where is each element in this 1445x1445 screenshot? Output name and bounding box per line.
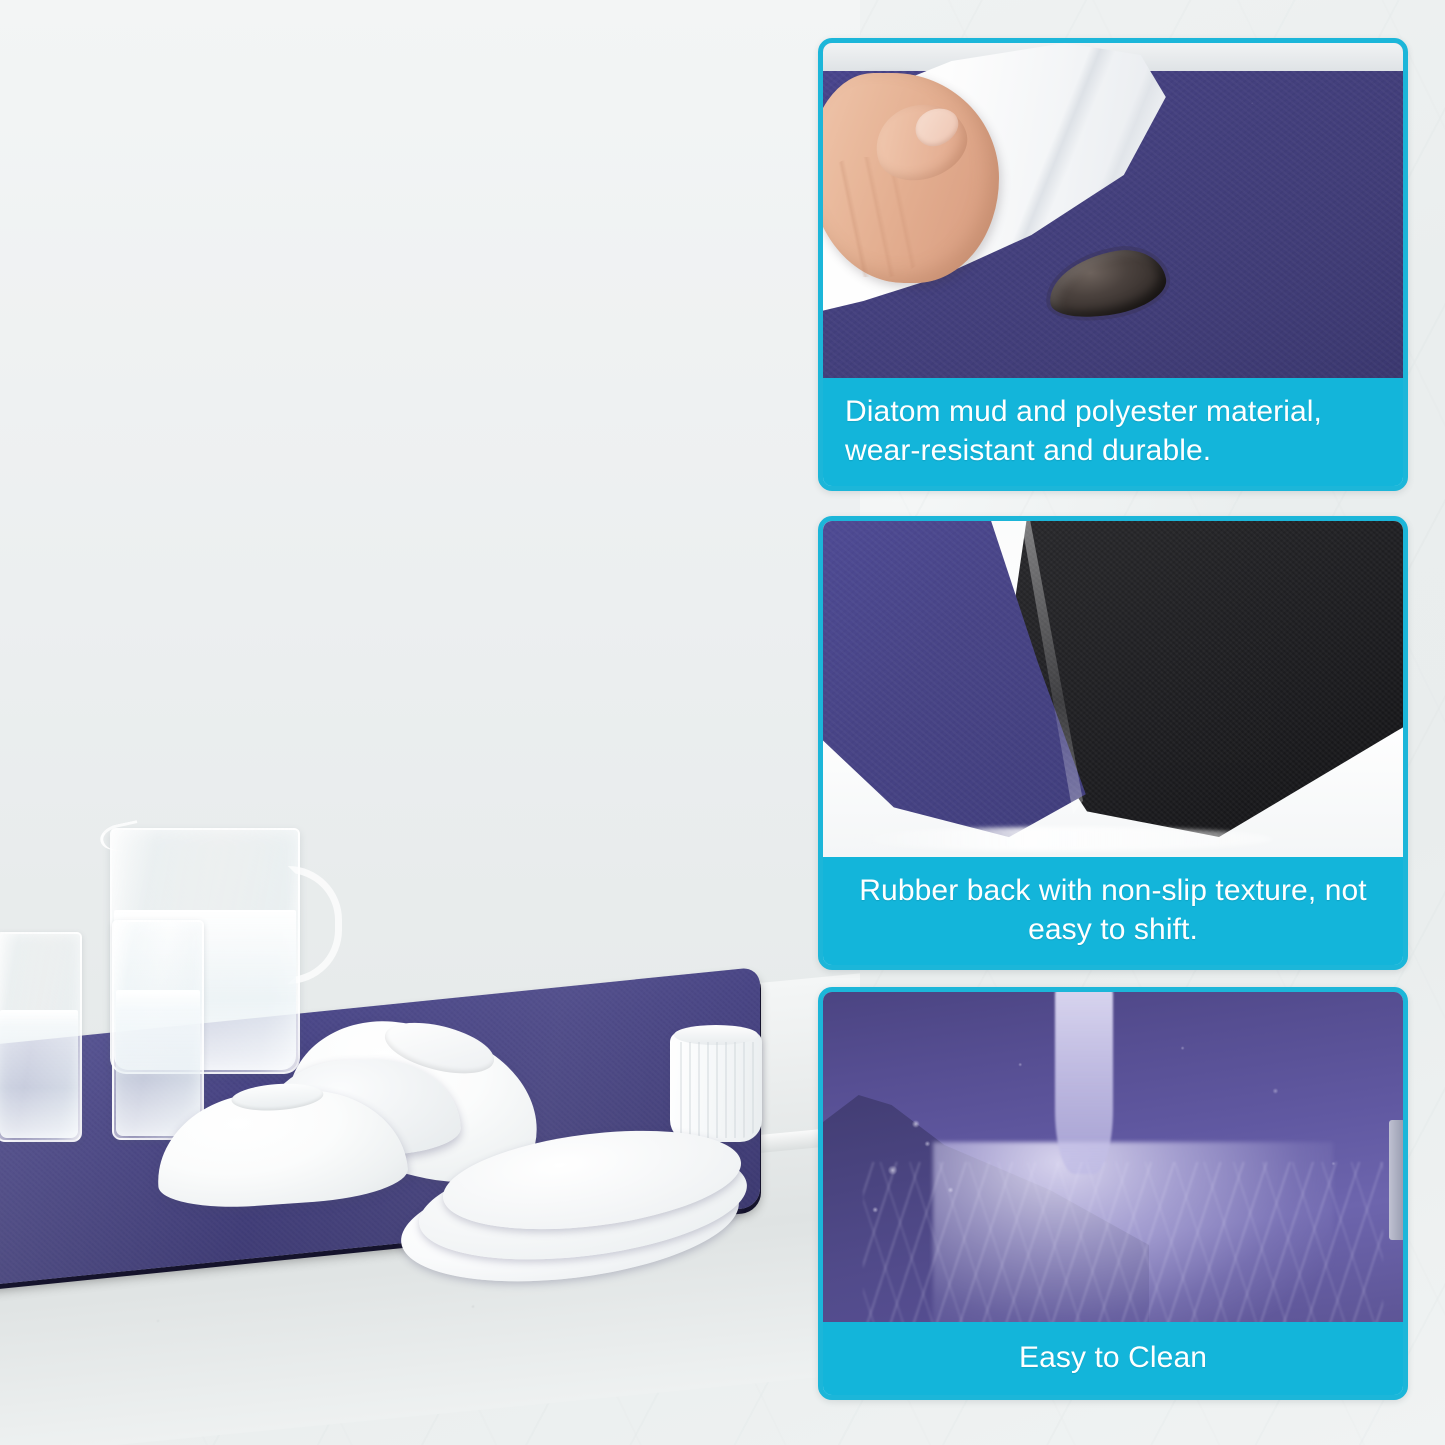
- feature-caption-material: Diatom mud and polyester material, wear-…: [823, 378, 1403, 486]
- feature-panel-rubber-back: Rubber back with non-slip texture, not e…: [818, 516, 1408, 970]
- feature-caption-rubber-back: Rubber back with non-slip texture, not e…: [823, 857, 1403, 965]
- product-features-infographic: Product Features: [0, 0, 1445, 1445]
- feature-panel-material: Diatom mud and polyester material, wear-…: [818, 38, 1408, 491]
- water-glass-left: [0, 932, 82, 1142]
- water-bubbles: [823, 992, 1403, 1322]
- water-glass-right: [112, 920, 204, 1140]
- mat-edge-highlight: [853, 827, 1273, 851]
- kitchen-scene-photo: [0, 760, 860, 1445]
- faucet-edge: [1389, 1120, 1403, 1240]
- cup-fluting: [673, 1042, 759, 1138]
- feature-photo-easy-clean: [823, 992, 1403, 1322]
- feature-caption-easy-clean: Easy to Clean: [823, 1322, 1403, 1395]
- feature-photo-material: [823, 43, 1403, 378]
- glass-water: [0, 1010, 78, 1138]
- feature-photo-rubber-back: [823, 521, 1403, 857]
- glass-water: [116, 990, 200, 1136]
- fluted-cup: [670, 1032, 762, 1142]
- feature-panel-easy-clean: Easy to Clean: [818, 987, 1408, 1400]
